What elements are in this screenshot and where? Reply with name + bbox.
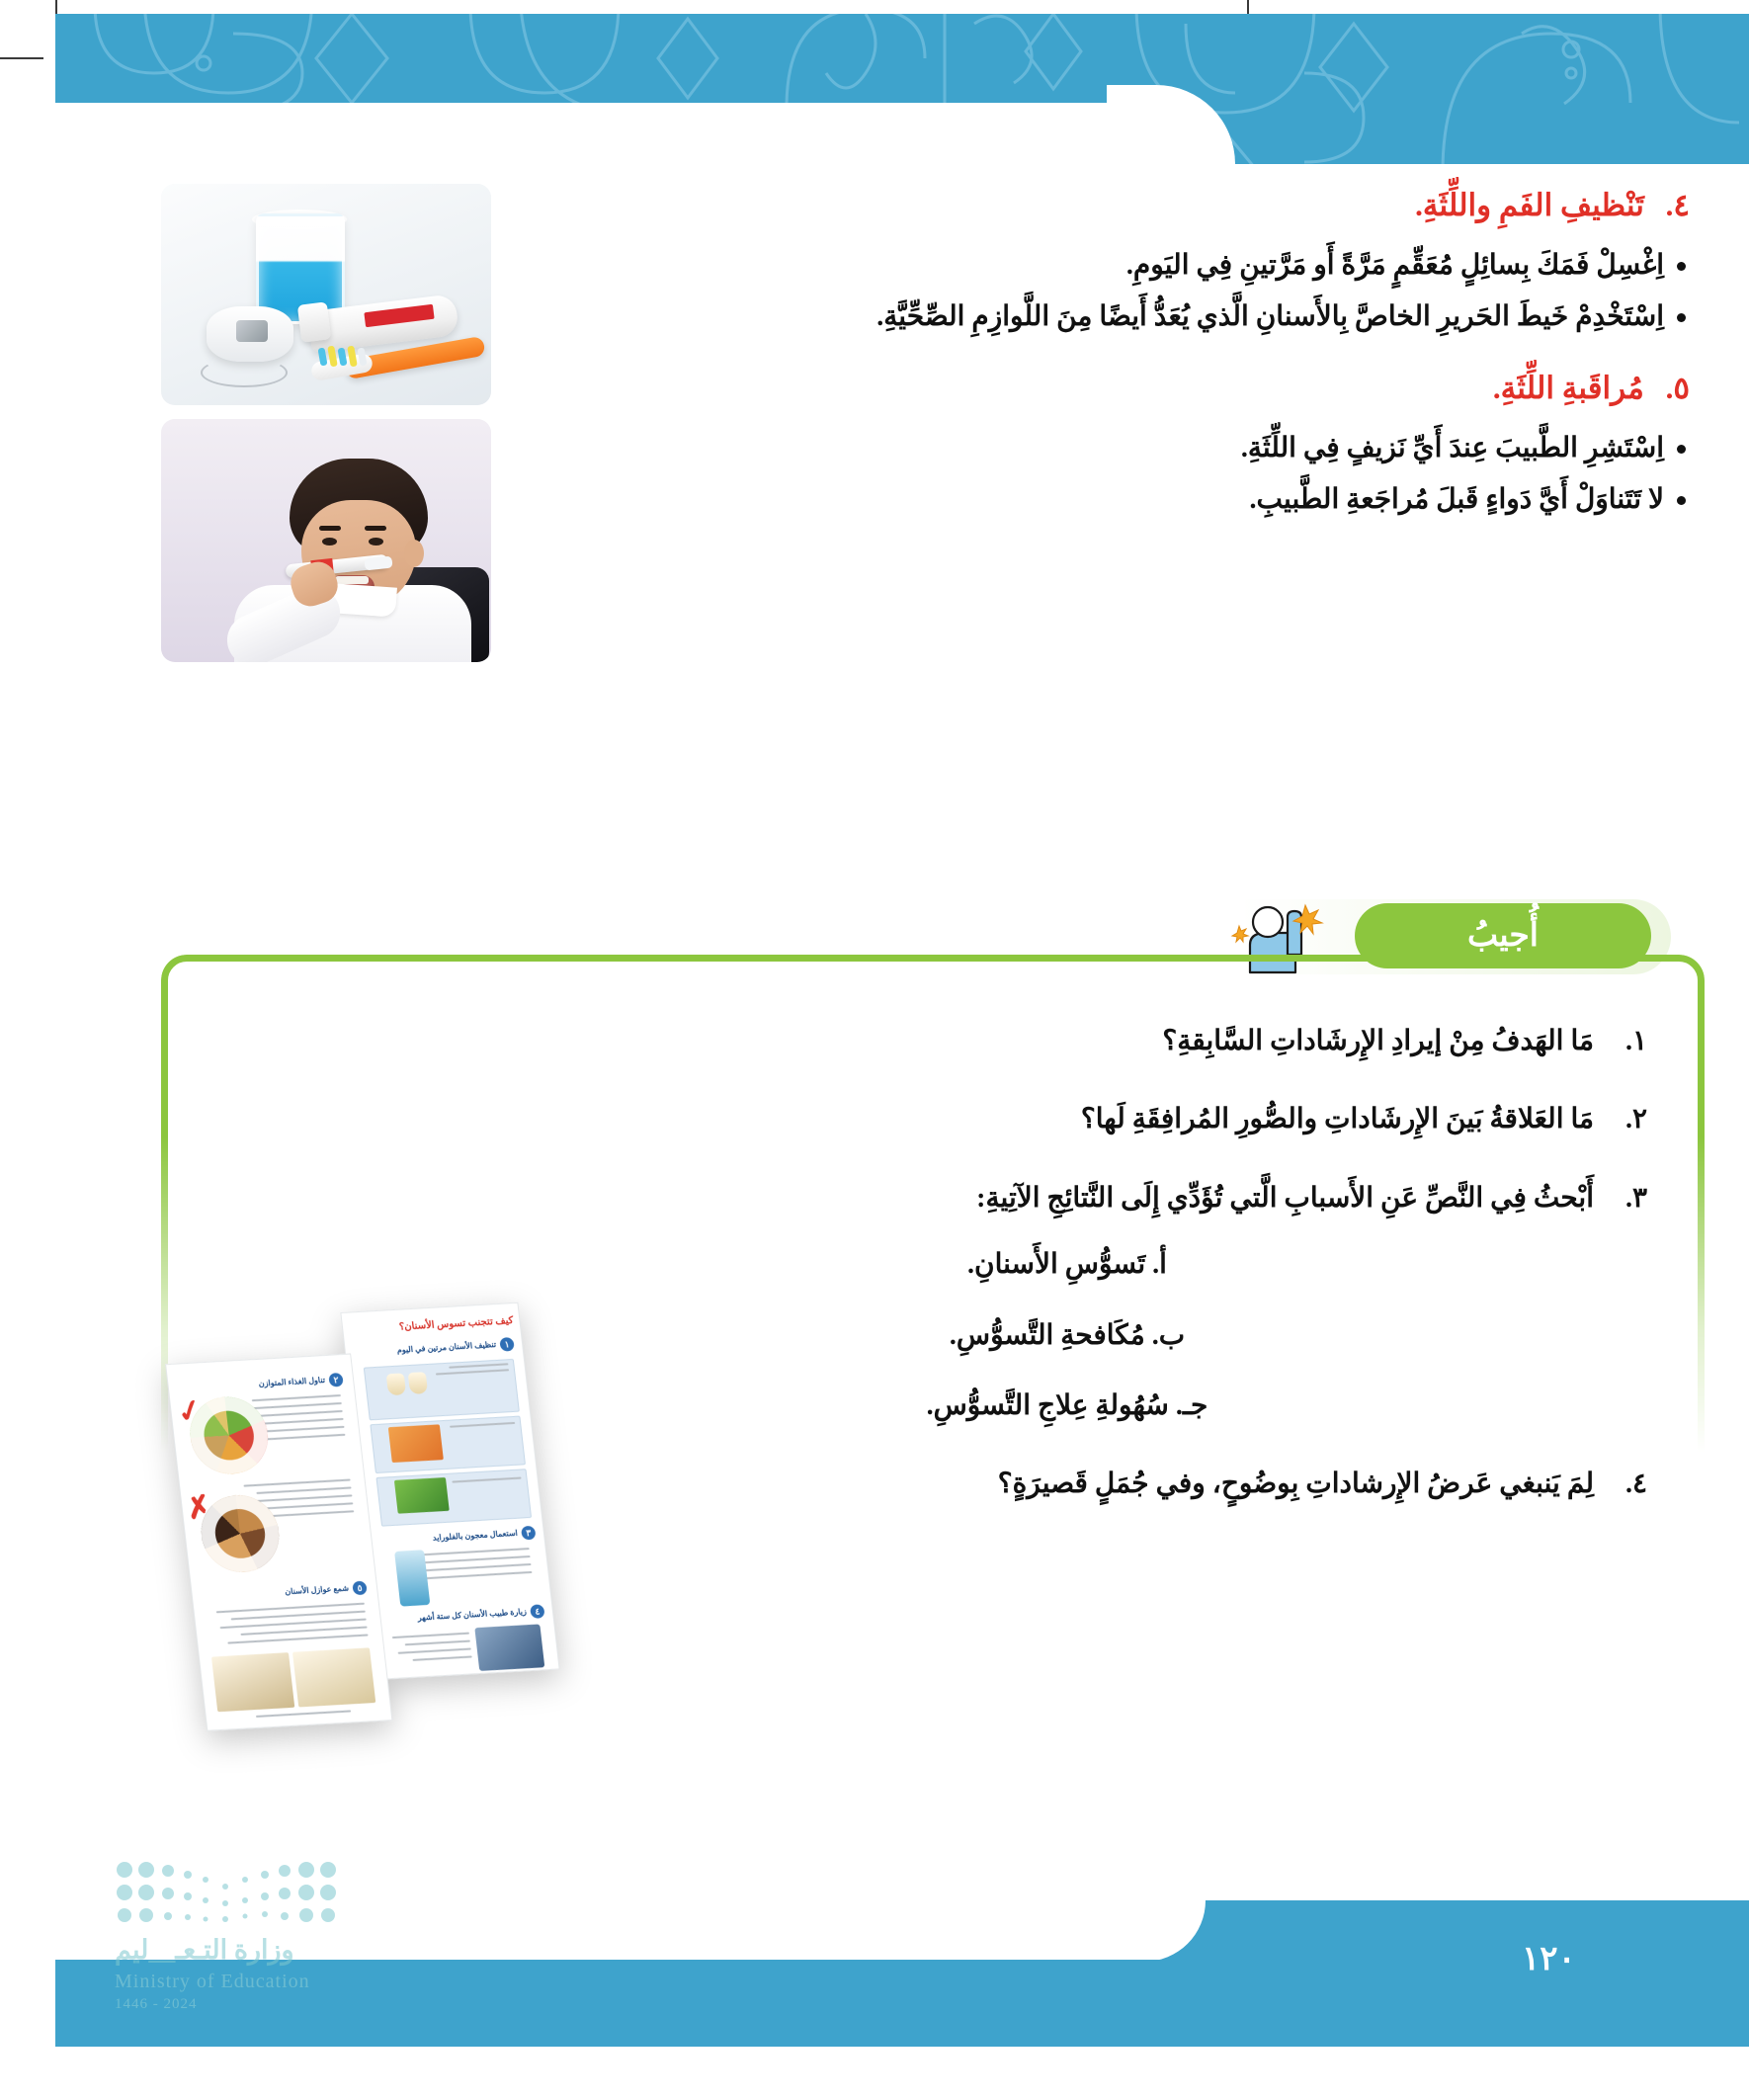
question-number: ٢. bbox=[1602, 1098, 1647, 1140]
question-text: أَبْحثُ فِي النَّصِّ عَنِ الأَسبابِ الَّ… bbox=[976, 1183, 1594, 1214]
list-item: جـ. سُهُولةِ عِلاجِ التَّسوُّسِ. bbox=[659, 1385, 1594, 1427]
ministry-of-education-logo: وزارة التـعـ__ليم Ministry of Education … bbox=[115, 1862, 441, 2020]
question-text: مَا العَلاقةُ بَينَ الإِرشَاداتِ والصُّو… bbox=[1081, 1104, 1594, 1134]
instructions-text-column: ٤. تَنْظيفِ الفَمِ واللِّثَةِ. اِغْسِلْ … bbox=[642, 184, 1690, 550]
dental-supplies-photo bbox=[161, 184, 491, 405]
ministry-logo-year: 2024 - 1446 bbox=[115, 1996, 198, 2013]
ministry-name-english: Ministry of Education bbox=[115, 1971, 310, 1993]
list-item: ب. مُكَافحةِ التَّسوُّسِ. bbox=[659, 1314, 1594, 1357]
section-5-bullets: اِسْتَشِرِ الطَّبيبَ عِندَ أَيِّ نَزيفٍ … bbox=[642, 425, 1690, 524]
list-item: أ. تَسوُّسِ الأَسنانِ. bbox=[659, 1243, 1594, 1286]
boy-brushing-photo bbox=[161, 419, 491, 662]
page-number: ١٢٠ bbox=[1522, 1939, 1576, 1978]
question-text: مَا الهَدفُ مِنْ إيرادِ الإِرشَاداتِ الس… bbox=[1162, 1026, 1594, 1056]
questions-list: ١. مَا الهَدفُ مِنْ إيرادِ الإِرشَاداتِ … bbox=[659, 1020, 1647, 1542]
question-number: ٣. bbox=[1602, 1177, 1647, 1219]
crop-mark-left bbox=[0, 57, 43, 59]
section-4-bullets: اِغْسِلْ فَمَكَ بِسائِلٍ مُعَقِّمٍ مَرَّ… bbox=[642, 242, 1690, 341]
textbook-page: ٤. تَنْظيفِ الفَمِ واللِّثَةِ. اِغْسِلْ … bbox=[0, 0, 1749, 2100]
answer-badge-label: أُجيبُ bbox=[1467, 920, 1539, 953]
section-title-4: تَنْظيفِ الفَمِ واللِّثَةِ. bbox=[1415, 188, 1644, 222]
ministry-name-arabic: وزارة التـعـ__ليم bbox=[115, 1935, 294, 1966]
section-heading-5: ٥. مُراقَبةِ اللِّثَةِ. bbox=[642, 367, 1690, 411]
question-3: ٣. أَبْحثُ فِي النَّصِّ عَنِ الأَسبابِ ا… bbox=[659, 1177, 1647, 1428]
question-1: ١. مَا الهَدفُ مِنْ إيرادِ الإِرشَاداتِ … bbox=[659, 1020, 1647, 1062]
question-text: لِمَ يَنبغي عَرضُ الإِرشاداتِ بِوضُوحٍ، … bbox=[998, 1469, 1594, 1499]
header-ornament-pattern-right bbox=[1107, 14, 1749, 164]
question-2: ٢. مَا العَلاقةُ بَينَ الإِرشَاداتِ والص… bbox=[659, 1098, 1647, 1140]
list-item: اِسْتَخْدِمْ خَيطَ الحَريرِ الخاصَّ بِال… bbox=[642, 294, 1690, 341]
footer-wave-shape bbox=[1077, 1900, 1749, 1962]
dental-brochure-photo: كيف تتجنب تسوس الأسنان؟ ١ تنظيف الأسنان … bbox=[161, 1292, 561, 1744]
section-heading-4: ٤. تَنْظيفِ الفَمِ واللِّثَةِ. bbox=[642, 184, 1690, 228]
list-item: اِسْتَشِرِ الطَّبيبَ عِندَ أَيِّ نَزيفٍ … bbox=[642, 425, 1690, 472]
question-4: ٤. لِمَ يَنبغي عَرضُ الإِرشاداتِ بِوضُوح… bbox=[659, 1463, 1647, 1505]
section-number-5: ٥. bbox=[1666, 371, 1690, 405]
section-title-5: مُراقَبةِ اللِّثَةِ. bbox=[1493, 371, 1644, 405]
header-banner-right-extension bbox=[1107, 14, 1749, 164]
section-number-4: ٤. bbox=[1666, 188, 1690, 222]
list-item: لا تَتَناوَلْ أَيَّ دَواءٍ قَبلَ مُراجَع… bbox=[642, 476, 1690, 524]
list-item: اِغْسِلْ فَمَكَ بِسائِلٍ مُعَقِّمٍ مَرَّ… bbox=[642, 242, 1690, 290]
question-number: ٤. bbox=[1602, 1463, 1647, 1505]
question-number: ١. bbox=[1602, 1020, 1647, 1062]
ministry-dots-mark-icon bbox=[115, 1862, 342, 1923]
question-3-subitems: أ. تَسوُّسِ الأَسنانِ. ب. مُكَافحةِ التَ… bbox=[659, 1243, 1594, 1427]
brochure-title: كيف تتجنب تسوس الأسنان؟ bbox=[398, 1315, 514, 1333]
header-right-edge bbox=[1745, 14, 1749, 103]
